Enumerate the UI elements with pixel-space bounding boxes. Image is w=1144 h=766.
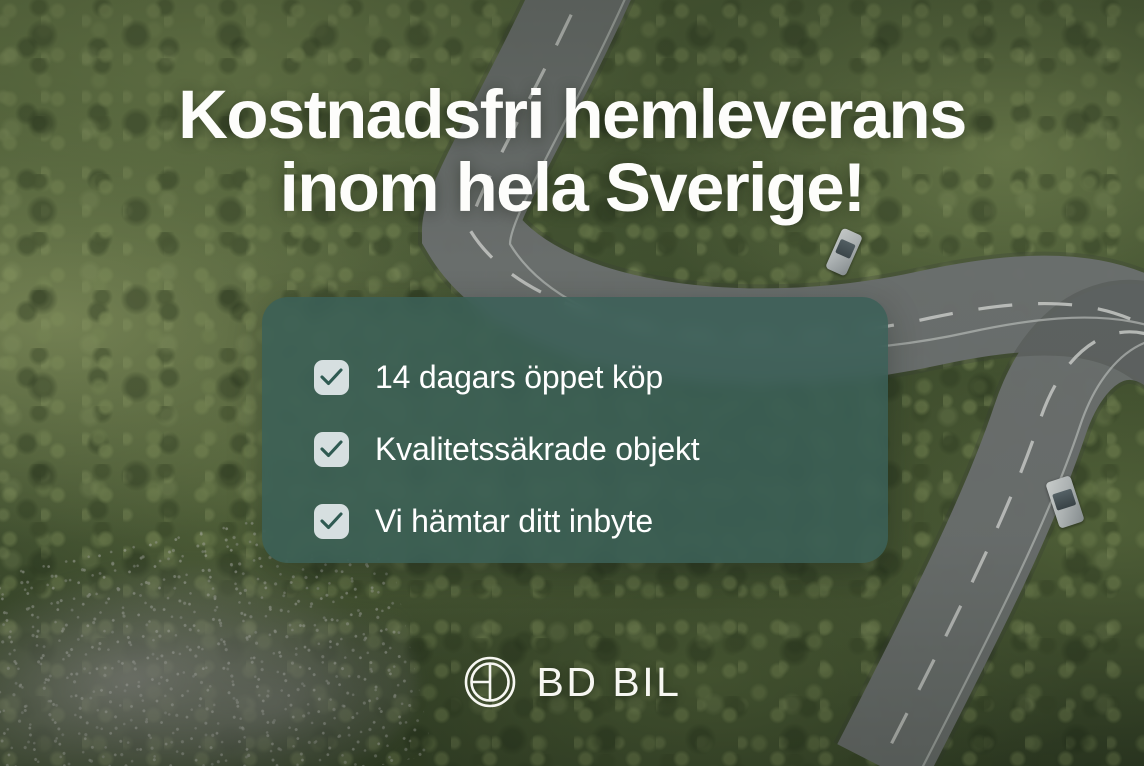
promo-banner: Kostnadsfri hemleverans inom hela Sverig… bbox=[0, 0, 1144, 766]
check-icon bbox=[314, 432, 349, 467]
benefit-item: 14 dagars öppet köp bbox=[314, 341, 888, 413]
headline-line-1: Kostnadsfri hemleverans bbox=[0, 78, 1144, 151]
benefit-label: Kvalitetssäkrade objekt bbox=[375, 431, 699, 468]
brand-logo: BD BIL bbox=[0, 655, 1144, 709]
benefit-item: Kvalitetssäkrade objekt bbox=[314, 413, 888, 485]
headline: Kostnadsfri hemleverans inom hela Sverig… bbox=[0, 78, 1144, 224]
benefits-card: 14 dagars öppet köp Kvalitetssäkrade obj… bbox=[262, 297, 888, 563]
check-icon bbox=[314, 504, 349, 539]
bd-bil-circle-monogram-icon bbox=[463, 655, 517, 709]
check-icon bbox=[314, 360, 349, 395]
benefit-label: 14 dagars öppet köp bbox=[375, 359, 663, 396]
brand-wordmark: BD BIL bbox=[537, 659, 682, 706]
benefit-item: Vi hämtar ditt inbyte bbox=[314, 485, 888, 557]
benefit-label: Vi hämtar ditt inbyte bbox=[375, 503, 653, 540]
headline-line-2: inom hela Sverige! bbox=[0, 151, 1144, 224]
